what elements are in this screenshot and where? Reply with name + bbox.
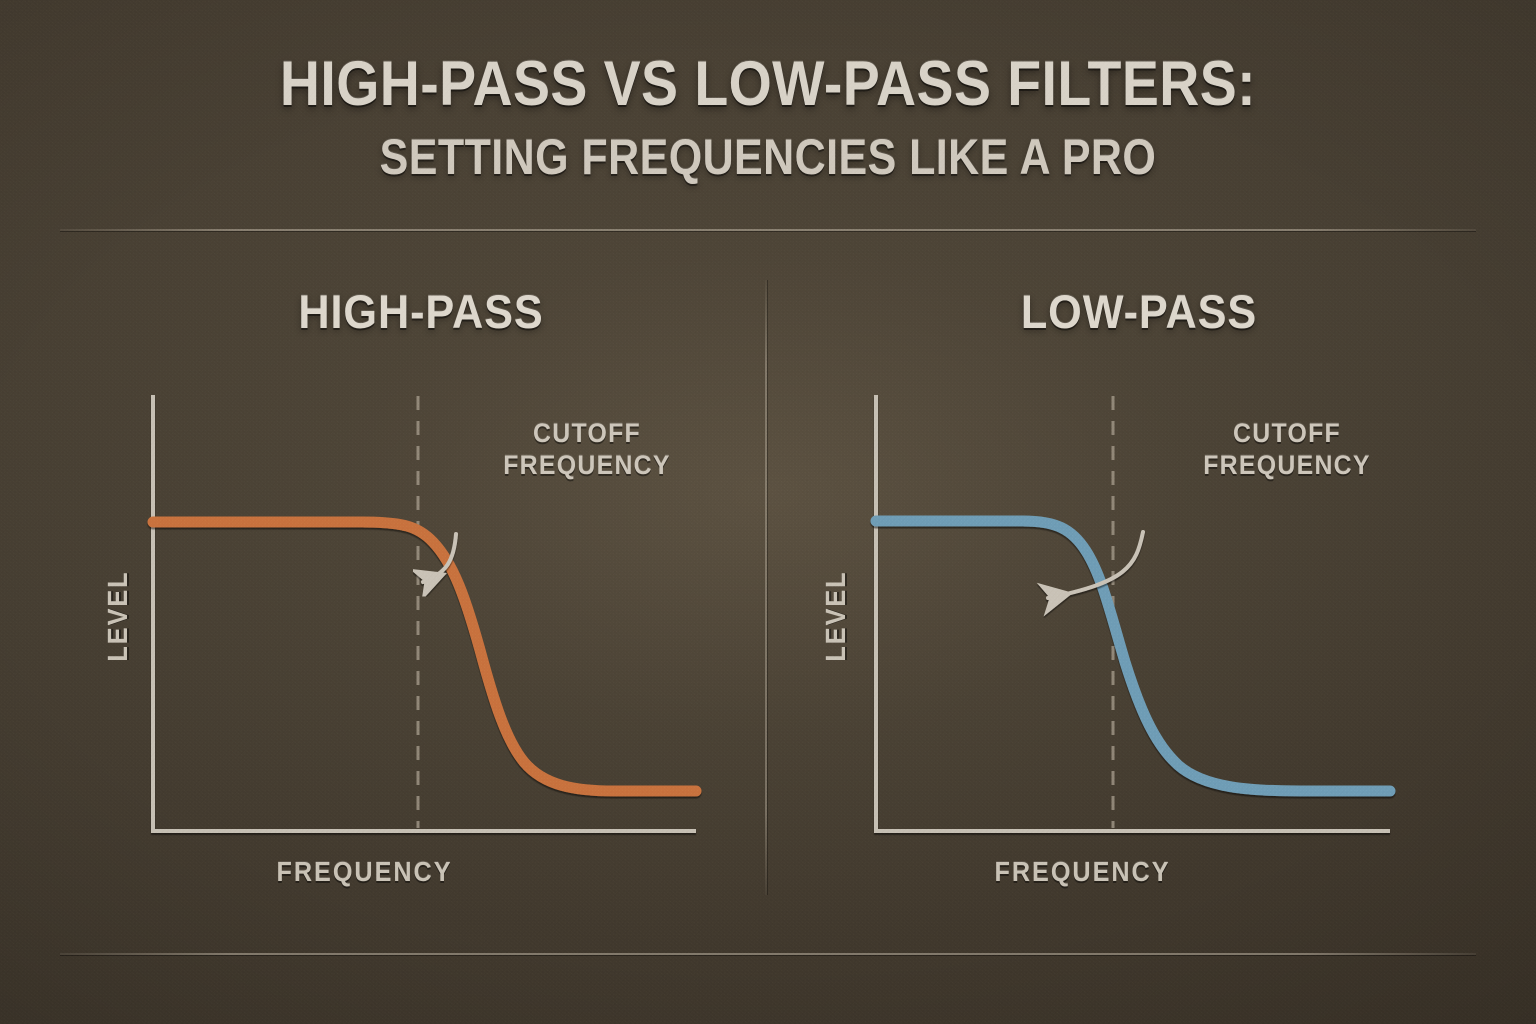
divider-bottom <box>60 953 1476 955</box>
cutoff-annotation-high-pass: CUTOFF FREQUENCY <box>472 418 702 482</box>
chart-low-pass <box>780 270 1498 910</box>
title-block: HIGH-PASS VS LOW-PASS FILTERS: SETTING F… <box>0 52 1536 186</box>
y-axis-label-high-pass: LEVEL <box>102 535 134 697</box>
chart-high-pass <box>62 270 780 910</box>
page-subtitle: SETTING FREQUENCIES LIKE A PRO <box>108 128 1429 186</box>
cutoff-annotation-low-pass: CUTOFF FREQUENCY <box>1172 418 1402 482</box>
panel-high-pass: HIGH-PASS CUTOFF FREQUENCY <box>62 270 780 910</box>
page-title: HIGH-PASS VS LOW-PASS FILTERS: <box>92 52 1444 116</box>
divider-top <box>60 229 1476 231</box>
panel-low-pass: LOW-PASS CUTOFF FREQUENCY <box>780 270 1498 910</box>
x-axis-label-high-pass: FREQUENCY <box>92 856 637 888</box>
y-axis-label-low-pass: LEVEL <box>820 535 852 697</box>
x-axis-label-low-pass: FREQUENCY <box>810 856 1355 888</box>
response-curve-high-pass <box>153 522 696 791</box>
poster-canvas: HIGH-PASS VS LOW-PASS FILTERS: SETTING F… <box>0 0 1536 1024</box>
